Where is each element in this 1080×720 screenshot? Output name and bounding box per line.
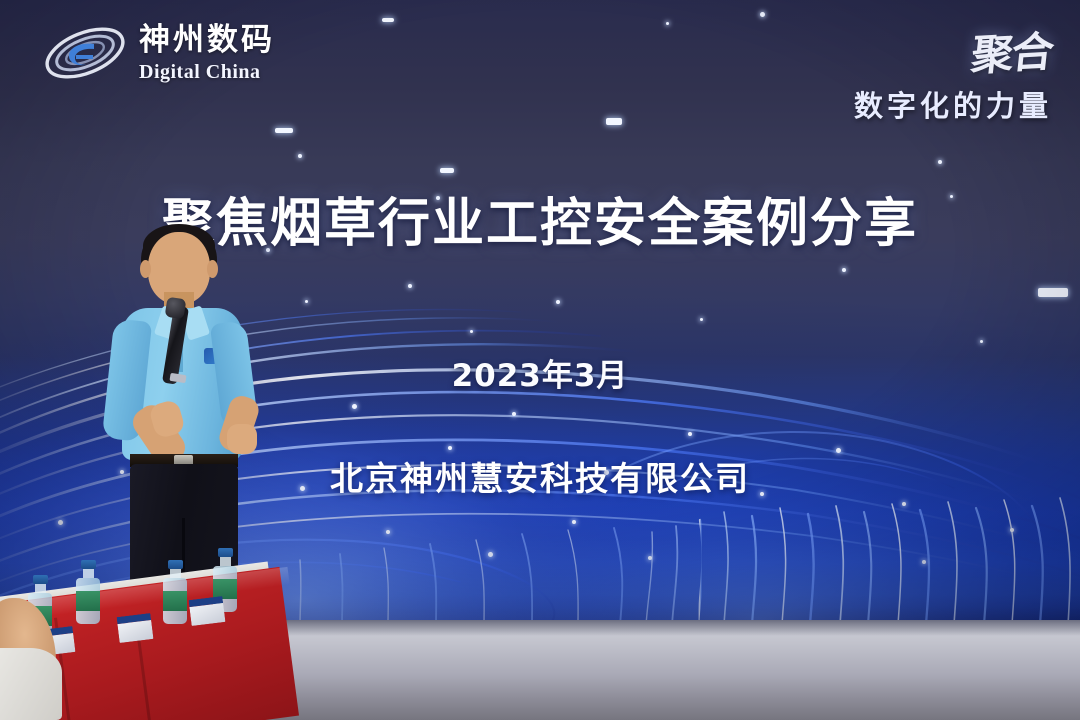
juhe-tagline: 数字化的力量 [854, 83, 1052, 125]
bottle-cap [33, 575, 48, 584]
name-card [189, 596, 226, 626]
bottle-body [163, 578, 187, 624]
bottle-label [163, 591, 187, 611]
bottle-neck [170, 569, 181, 578]
bottle-label [76, 591, 100, 611]
juhe-calligraphy-mark: 聚合 [968, 18, 1055, 83]
water-bottle [163, 560, 187, 624]
juhe-event-logo: 聚合 数字化的力量 [854, 20, 1052, 125]
bottle-neck [220, 557, 231, 566]
presenter-ear-right [207, 260, 218, 278]
seated-attendee-sleeve [0, 648, 62, 720]
digital-china-logo: 神州数码 Digital China [42, 18, 275, 88]
bottle-neck [83, 569, 94, 578]
digital-china-spiral-icon [42, 18, 128, 88]
conference-stage-photo: 神州数码 Digital China 聚合 数字化的力量 聚焦烟草行业工控安全案… [0, 0, 1080, 720]
bottle-cap [168, 560, 183, 569]
presenter-hand-right [227, 424, 257, 454]
bottle-neck [35, 584, 46, 593]
bottle-body [76, 578, 100, 624]
presenter-ear-left [140, 260, 151, 278]
digital-china-name-cn: 神州数码 [139, 25, 275, 56]
microphone-head [165, 297, 187, 320]
water-bottle [76, 560, 100, 624]
bottle-cap [81, 560, 96, 569]
digital-china-name-en: Digital China [139, 62, 275, 82]
bottle-cap [218, 548, 233, 557]
name-card [117, 613, 154, 643]
